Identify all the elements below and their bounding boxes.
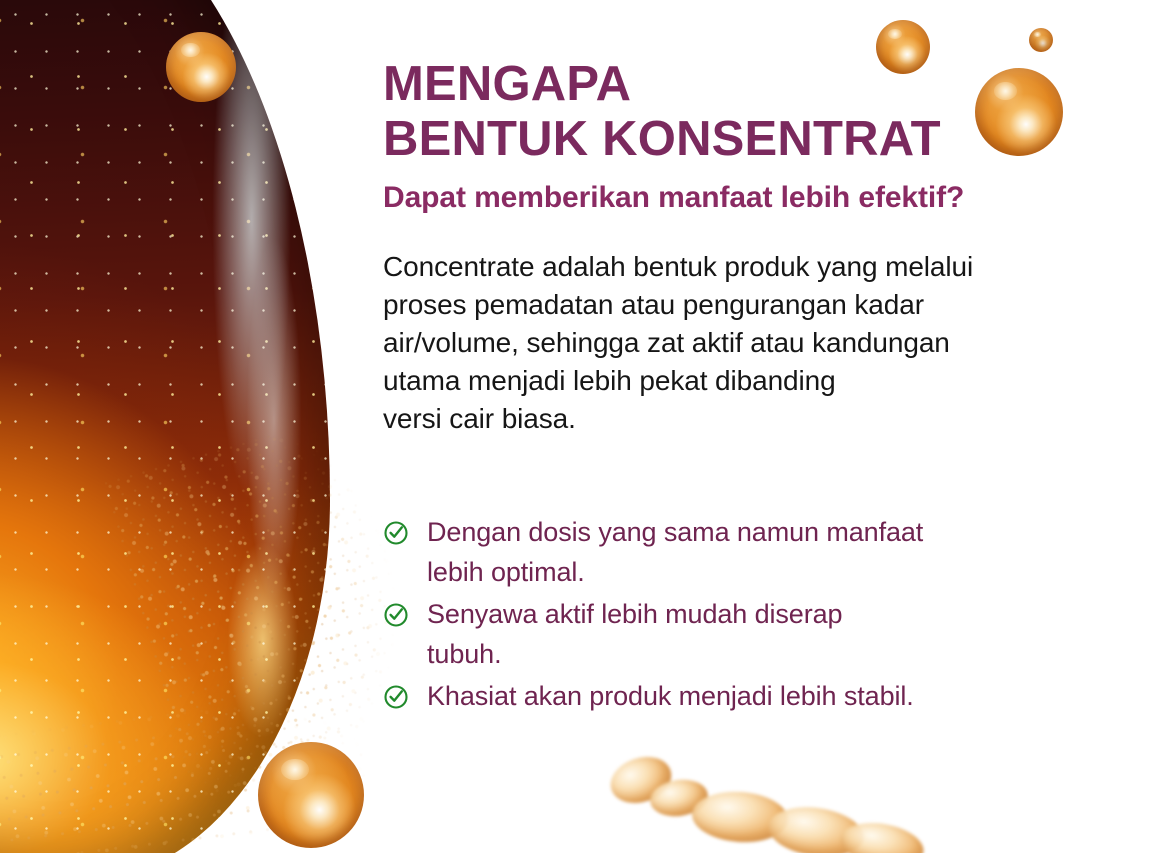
list-item: Dengan dosis yang sama namun manfaat leb… xyxy=(383,512,1083,592)
text-column: MENGAPA BENTUK KONSENTRAT Dapat memberik… xyxy=(383,0,1103,853)
check-circle-icon xyxy=(383,684,409,710)
amber-bubble-top-left xyxy=(166,32,236,102)
amber-bubble-bottom-left xyxy=(258,742,364,848)
benefits-list: Dengan dosis yang sama namun manfaat leb… xyxy=(383,512,1083,718)
list-item-label: Khasiat akan produk menjadi lebih stabil… xyxy=(427,676,914,716)
check-circle-icon xyxy=(383,602,409,628)
list-item-label: Dengan dosis yang sama namun manfaat leb… xyxy=(427,512,923,592)
page-subtitle: Dapat memberikan manfaat lebih efektif? xyxy=(383,180,964,216)
page-title: MENGAPA BENTUK KONSENTRAT xyxy=(383,57,941,167)
list-item-label: Senyawa aktif lebih mudah diserap tubuh. xyxy=(427,594,842,674)
list-item: Khasiat akan produk menjadi lebih stabil… xyxy=(383,676,1083,716)
description-paragraph: Concentrate adalah bentuk produk yang me… xyxy=(383,248,1083,438)
list-item: Senyawa aktif lebih mudah diserap tubuh. xyxy=(383,594,1083,674)
golden-particle-spray-lower xyxy=(0,675,431,853)
poster-canvas: MENGAPA BENTUK KONSENTRAT Dapat memberik… xyxy=(0,0,1169,853)
check-circle-icon xyxy=(383,520,409,546)
